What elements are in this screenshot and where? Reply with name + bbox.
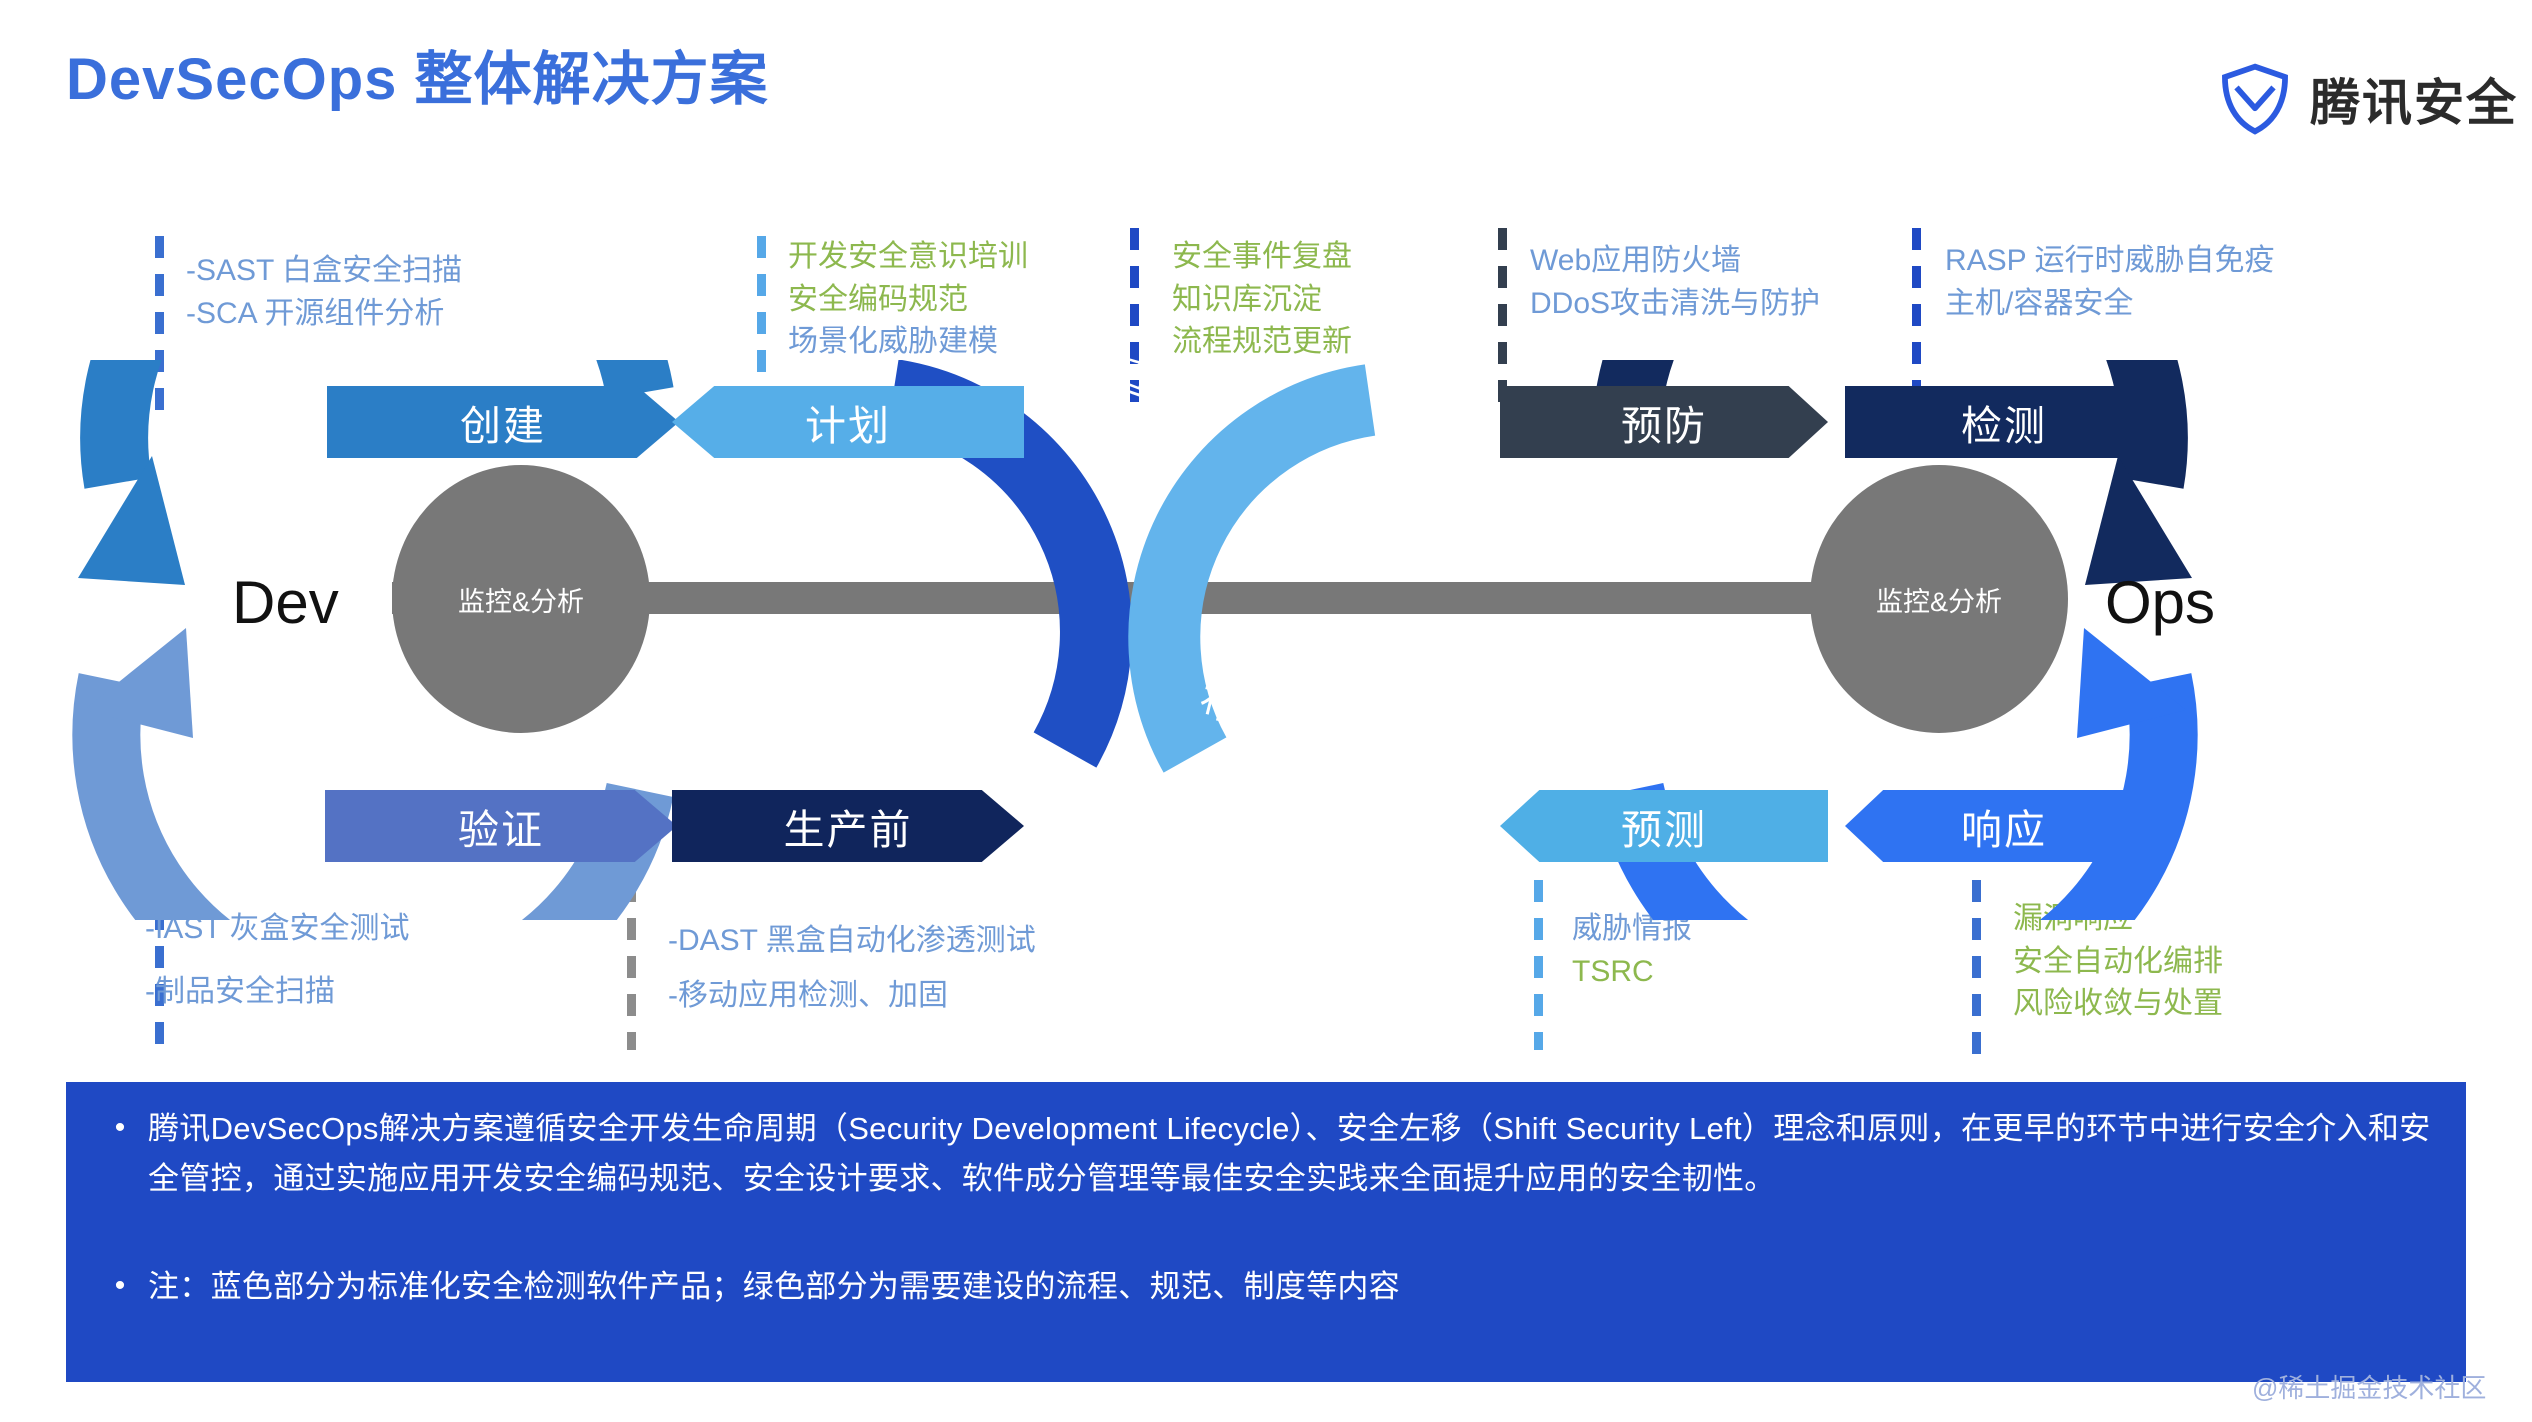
footer-bullet-1: • 腾讯DevSecOps解决方案遵循安全开发生命周期（Security Dev… — [92, 1104, 2442, 1204]
stage-banner-predict[interactable]: 预测 — [1500, 790, 1828, 862]
annotation-incident-review: 安全事件复盘 知识库沉淀 流程规范更新 — [1172, 236, 1352, 364]
annotation-line: Web应用防火墙 — [1530, 240, 1820, 283]
ops-label: Ops — [2105, 568, 2215, 637]
stage-banner-verify-label: 验证 — [458, 796, 544, 856]
annotation-iast-artifact: -IAST 灰盒安全测试 -制品安全扫描 — [145, 908, 409, 1013]
stage-banner-prevent-label: 预防 — [1621, 392, 1707, 452]
brand-name: 腾讯安全 — [2310, 63, 2518, 135]
monitor-circle-left-label: 监控&分析 — [458, 580, 584, 619]
annotation-line: TSRC — [1572, 951, 1692, 994]
annotation-line: 场景化威胁建模 — [788, 321, 1028, 364]
footer-bullet-1-text: 腾讯DevSecOps解决方案遵循安全开发生命周期（Security Devel… — [148, 1104, 2442, 1204]
monitor-circle-right-label: 监控&分析 — [1876, 580, 2002, 619]
stage-banner-detect[interactable]: 检测 — [1845, 386, 2163, 458]
stage-banner-respond[interactable]: 响应 — [1845, 790, 2163, 862]
stage-banner-create[interactable]: 创建 — [327, 386, 679, 458]
bullet-marker: • — [92, 1262, 148, 1312]
stage-banner-detect-label: 检测 — [1961, 392, 2047, 452]
annotation-line: -DAST 黑盒自动化渗透测试 — [668, 920, 1036, 963]
stage-banner-plan-label: 计划 — [805, 392, 891, 452]
annotation-line: 安全编码规范 — [788, 279, 1028, 322]
annotation-line: -SCA 开源组件分析 — [186, 293, 462, 336]
annotation-line: 知识库沉淀 — [1172, 279, 1352, 322]
annotation-line: RASP 运行时威胁自免疫 — [1945, 240, 2275, 283]
stage-banner-create-label: 创建 — [460, 392, 546, 452]
shield-icon — [2218, 62, 2292, 136]
annotation-line: -制品安全扫描 — [145, 971, 409, 1014]
annotation-dev-training: 开发安全意识培训 安全编码规范 场景化威胁建模 — [788, 236, 1028, 364]
annotation-line: 风险收敛与处置 — [2013, 983, 2223, 1026]
annotation-line: 流程规范更新 — [1172, 321, 1352, 364]
annotation-line: -移动应用检测、加固 — [668, 975, 1036, 1018]
annotation-line: 开发安全意识培训 — [788, 236, 1028, 279]
annotation-threat-intel: 威胁情报 TSRC — [1572, 908, 1692, 993]
monitor-circle-left: 监控&分析 — [392, 465, 650, 733]
stage-banner-preprod[interactable]: 生产前 — [672, 790, 1024, 862]
bullet-marker: • — [92, 1104, 148, 1204]
stage-banner-plan[interactable]: 计划 — [672, 386, 1024, 458]
page-title: DevSecOps 整体解决方案 — [66, 32, 769, 116]
annotation-rasp-host: RASP 运行时威胁自免疫 主机/容器安全 — [1945, 240, 2275, 325]
stage-banner-respond-label: 响应 — [1961, 796, 2047, 856]
brand-logo: 腾讯安全 — [2218, 62, 2518, 136]
footer-bullet-2-text: 注：蓝色部分为标准化安全检测软件产品；绿色部分为需要建设的流程、规范、制度等内容 — [148, 1262, 1400, 1312]
stage-banner-verify[interactable]: 验证 — [325, 790, 677, 862]
monitor-circle-right: 监控&分析 — [1810, 465, 2068, 733]
annotation-line: -SAST 白盒安全扫描 — [186, 250, 462, 293]
annotation-line: 安全自动化编排 — [2013, 941, 2223, 984]
stage-banner-preprod-label: 生产前 — [784, 796, 913, 856]
annotation-line: 安全事件复盘 — [1172, 236, 1352, 279]
annotation-line: DDoS攻击清洗与防护 — [1530, 283, 1820, 326]
annotation-waf-ddos: Web应用防火墙 DDoS攻击清洗与防护 — [1530, 240, 1820, 325]
stage-banner-predict-label: 预测 — [1621, 796, 1707, 856]
footer-note-box: • 腾讯DevSecOps解决方案遵循安全开发生命周期（Security Dev… — [66, 1082, 2466, 1382]
annotation-sast-sca: -SAST 白盒安全扫描 -SCA 开源组件分析 — [186, 250, 462, 335]
annotation-line: 主机/容器安全 — [1945, 283, 2275, 326]
dev-label: Dev — [232, 568, 339, 637]
watermark: @稀土掘金技术社区 — [2252, 1368, 2486, 1405]
annotation-dast-mobile: -DAST 黑盒自动化渗透测试 -移动应用检测、加固 — [668, 920, 1036, 1017]
footer-bullet-2: • 注：蓝色部分为标准化安全检测软件产品；绿色部分为需要建设的流程、规范、制度等… — [92, 1262, 2442, 1312]
stage-banner-prevent[interactable]: 预防 — [1500, 386, 1828, 458]
